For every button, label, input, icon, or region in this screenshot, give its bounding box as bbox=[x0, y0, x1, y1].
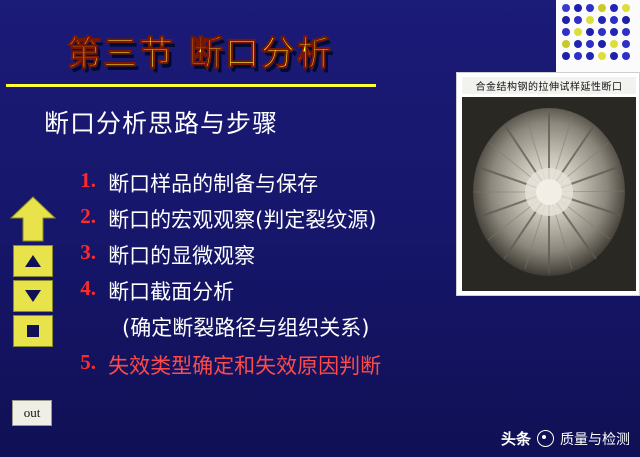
fracture-photograph bbox=[462, 97, 636, 291]
navigation-column[interactable] bbox=[10, 196, 58, 347]
fracture-image-panel: 合金结构钢的拉伸试样延性断口 bbox=[456, 72, 640, 296]
at-circle-icon bbox=[537, 430, 554, 447]
list-item-label: 断口样品的制备与保存 bbox=[101, 168, 318, 198]
triangle-down-icon[interactable] bbox=[13, 280, 53, 312]
dot-grid-decoration bbox=[556, 0, 640, 72]
triangle-up-icon[interactable] bbox=[13, 245, 53, 277]
list-item-label: 失效类型确定和失效原因判断 bbox=[101, 350, 381, 380]
list-item: 1. 断口样品的制备与保存 bbox=[70, 168, 490, 204]
out-button[interactable]: out bbox=[12, 400, 52, 426]
list-item-number: 3. bbox=[70, 240, 96, 265]
fracture-image-caption: 合金结构钢的拉伸试样延性断口 bbox=[462, 77, 636, 94]
bullet-list: 1. 断口样品的制备与保存 2. 断口的宏观观察(判定裂纹源) 3. 断口的显微… bbox=[70, 168, 490, 386]
list-item: 4. 断口截面分析 bbox=[70, 276, 490, 312]
list-item-number: 4. bbox=[70, 276, 96, 301]
slide-subtitle: 断口分析思路与步骤 bbox=[44, 104, 278, 140]
list-item: 5. 失效类型确定和失效原因判断 bbox=[70, 350, 490, 386]
list-item-continuation: (确定断裂路径与组织关系) bbox=[70, 312, 490, 350]
slide-title-text: 第三节 断口分析 bbox=[14, 26, 386, 75]
slide-title: 第三节 断口分析 第三节 断口分析 bbox=[14, 26, 386, 80]
list-item: 3. 断口的显微观察 bbox=[70, 240, 490, 276]
list-item-number: 1. bbox=[70, 168, 96, 193]
title-underline bbox=[6, 84, 376, 87]
list-item-label: 断口的宏观观察(判定裂纹源) bbox=[101, 204, 376, 234]
footer-watermark: 头条 质量与检测 bbox=[501, 428, 630, 449]
square-icon[interactable] bbox=[13, 315, 53, 347]
up-arrow-icon[interactable] bbox=[10, 196, 56, 242]
list-item-number: 5. bbox=[70, 350, 96, 375]
footer-brand: 头条 bbox=[501, 428, 531, 449]
list-item-label: 断口截面分析 bbox=[101, 276, 234, 306]
footer-account: 质量与检测 bbox=[560, 429, 630, 449]
list-item-number: 2. bbox=[70, 204, 96, 229]
list-item-label: 断口的显微观察 bbox=[101, 240, 255, 270]
list-item: 2. 断口的宏观观察(判定裂纹源) bbox=[70, 204, 490, 240]
slide-canvas: 第三节 断口分析 第三节 断口分析 断口分析思路与步骤 1. 断口样品的制备与保… bbox=[0, 0, 640, 457]
